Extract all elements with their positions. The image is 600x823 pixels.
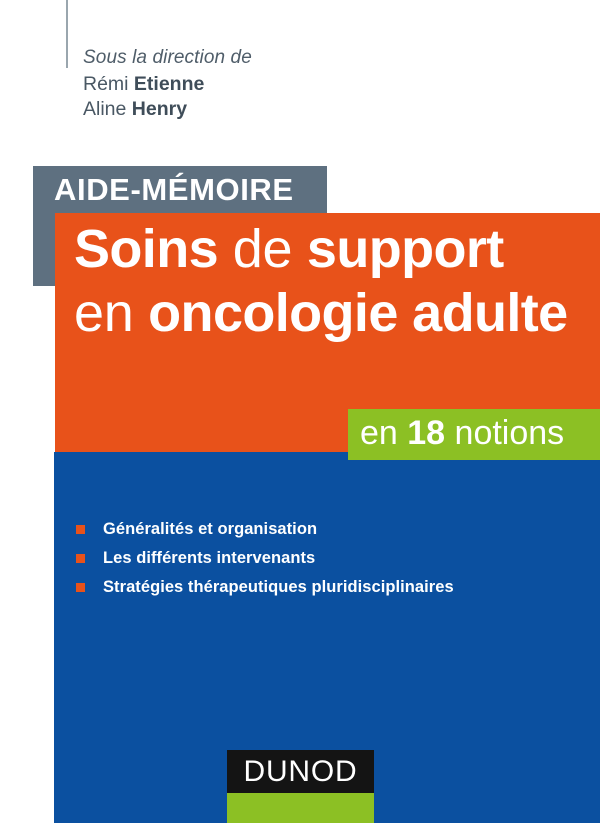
publisher-logo-green-bar — [227, 793, 374, 823]
page-title: Soins de support en oncologie adulte — [74, 222, 594, 341]
title-word-de: de — [218, 219, 307, 279]
title-words-oncologie-adulte: oncologie adulte — [148, 283, 567, 343]
notions-banner-text: en 18 notions — [360, 415, 564, 452]
publisher-name: DUNOD — [227, 750, 374, 793]
author-family-name-2: Henry — [132, 98, 187, 120]
author-family-name-1: Etienne — [134, 73, 204, 95]
title-word-soins: Soins — [74, 219, 218, 279]
credits-block: Sous la direction de Rémi Etienne Aline … — [83, 46, 413, 122]
list-item: Généralités et organisation — [76, 521, 576, 537]
topics-list: Généralités et organisation Les différen… — [76, 521, 576, 608]
book-cover: Sous la direction de Rémi Etienne Aline … — [0, 0, 600, 823]
list-item-label: Généralités et organisation — [103, 520, 317, 539]
list-item: Stratégies thérapeutiques pluridisciplin… — [76, 579, 576, 595]
notions-prefix: en — [360, 414, 407, 452]
collection-label: AIDE-MÉMOIRE — [54, 172, 354, 208]
list-item: Les différents intervenants — [76, 550, 576, 566]
title-line-1: Soins de support — [74, 222, 594, 277]
square-bullet-icon — [76, 583, 85, 592]
title-word-en: en — [74, 283, 148, 343]
publisher-logo: DUNOD — [227, 750, 374, 823]
author-given-name-2: Aline — [83, 98, 132, 120]
title-word-support: support — [307, 219, 504, 279]
square-bullet-icon — [76, 554, 85, 563]
list-item-label: Stratégies thérapeutiques pluridisciplin… — [103, 578, 454, 597]
author-line-1: Rémi Etienne — [83, 72, 413, 97]
header-vertical-rule — [66, 0, 68, 68]
title-line-2: en oncologie adulte — [74, 286, 594, 341]
notions-suffix: notions — [445, 414, 564, 452]
square-bullet-icon — [76, 525, 85, 534]
author-given-name-1: Rémi — [83, 73, 134, 95]
notions-count: 18 — [407, 414, 445, 452]
author-line-2: Aline Henry — [83, 97, 413, 122]
direction-line: Sous la direction de — [83, 46, 413, 71]
list-item-label: Les différents intervenants — [103, 549, 315, 568]
